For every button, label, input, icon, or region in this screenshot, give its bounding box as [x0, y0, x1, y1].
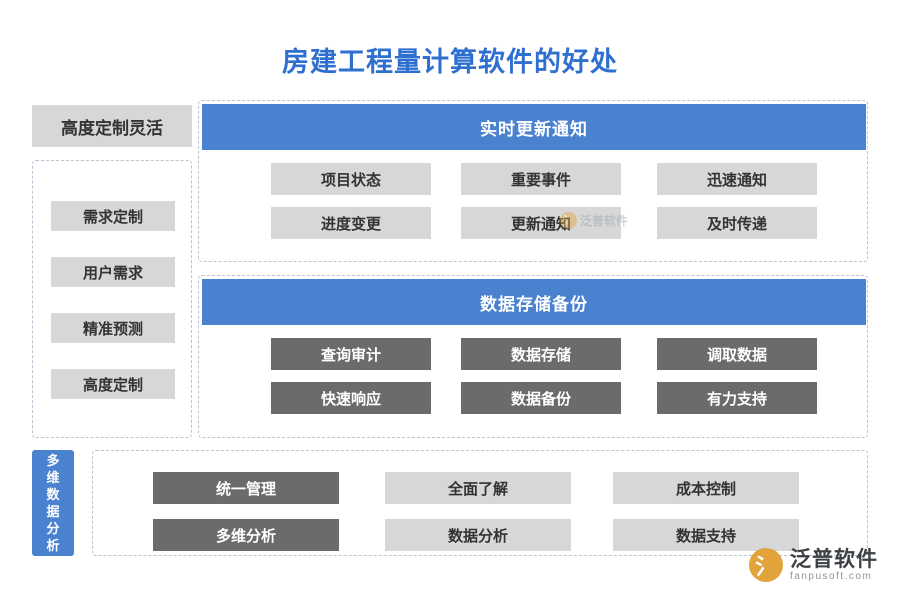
left-vertical-char-4: 分: [46, 520, 59, 537]
bottom-cell-0: 统一管理: [153, 472, 339, 504]
storage-cell-1: 数据存储: [461, 338, 621, 370]
left-item-2: 精准预测: [51, 313, 175, 343]
brand-logo-icon: 氵: [749, 548, 783, 582]
brand-logo: 氵 泛普软件 fanpusoft.com: [749, 548, 878, 582]
left-vertical-char-3: 据: [46, 503, 59, 520]
bottom-cell-5: 数据支持: [613, 519, 799, 551]
storage-cell-2: 调取数据: [657, 338, 817, 370]
storage-cell-3: 快速响应: [271, 382, 431, 414]
realtime-cell-3: 进度变更: [271, 207, 431, 239]
realtime-cell-0: 项目状态: [271, 163, 431, 195]
left-item-0: 需求定制: [51, 201, 175, 231]
storage-cell-0: 查询审计: [271, 338, 431, 370]
group-bottom: 统一管理 全面了解 成本控制 多维分析 数据分析 数据支持: [92, 450, 868, 556]
realtime-cell-4: 更新通知: [461, 207, 621, 239]
left-item-3: 高度定制: [51, 369, 175, 399]
group-realtime-band: 实时更新通知: [202, 104, 866, 150]
group-storage-band: 数据存储备份: [202, 279, 866, 325]
realtime-cell-5: 及时传递: [657, 207, 817, 239]
left-vertical-char-1: 维: [46, 469, 59, 486]
realtime-cell-1: 重要事件: [461, 163, 621, 195]
group-storage: 数据存储备份 查询审计 数据存储 调取数据 快速响应 数据备份 有力支持: [198, 275, 868, 438]
brand-logo-words: 泛普软件 fanpusoft.com: [790, 548, 878, 582]
left-header-box: 高度定制灵活: [32, 105, 192, 147]
left-vertical-char-5: 析: [46, 537, 59, 554]
brand-name-en: fanpusoft.com: [790, 571, 878, 582]
left-items-panel: 需求定制 用户需求 精准预测 高度定制: [32, 160, 192, 438]
left-vertical-char-2: 数: [46, 486, 59, 503]
left-vertical-char-0: 多: [46, 452, 59, 469]
bottom-cell-3: 多维分析: [153, 519, 339, 551]
brand-name-cn: 泛普软件: [790, 548, 878, 571]
bottom-cell-2: 成本控制: [613, 472, 799, 504]
diagram-canvas: 房建工程量计算软件的好处 高度定制灵活 需求定制 用户需求 精准预测 高度定制 …: [0, 0, 900, 600]
left-vertical-label: 多 维 数 据 分 析: [32, 450, 74, 556]
bottom-cell-4: 数据分析: [385, 519, 571, 551]
storage-cell-5: 有力支持: [657, 382, 817, 414]
realtime-cell-2: 迅速通知: [657, 163, 817, 195]
left-item-1: 用户需求: [51, 257, 175, 287]
page-title: 房建工程量计算软件的好处: [0, 40, 900, 79]
bottom-cell-1: 全面了解: [385, 472, 571, 504]
group-realtime: 实时更新通知 项目状态 重要事件 迅速通知 进度变更 更新通知 及时传递: [198, 100, 868, 262]
storage-cell-4: 数据备份: [461, 382, 621, 414]
